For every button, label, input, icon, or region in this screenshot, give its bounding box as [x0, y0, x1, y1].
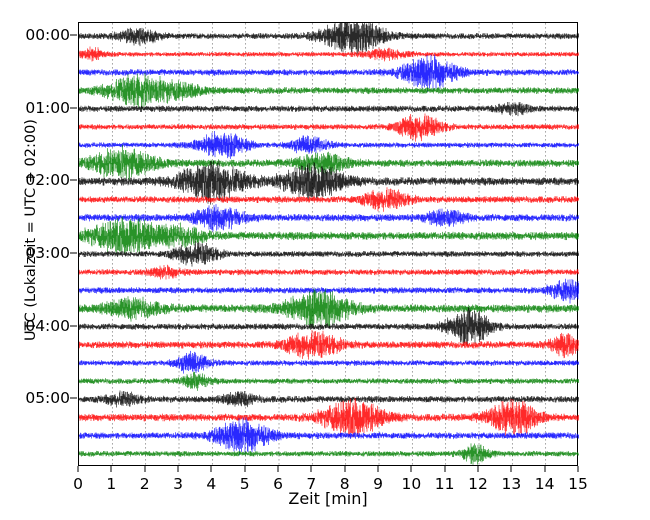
x-axis-tick-mark — [111, 466, 112, 472]
x-axis-tick-mark — [311, 466, 312, 472]
x-axis-tick-mark — [344, 466, 345, 472]
x-axis-tick-mark — [211, 466, 212, 472]
x-axis-tick-mark — [444, 466, 445, 472]
y-axis-tick-mark — [70, 398, 77, 399]
x-axis-label: Zeit [min] — [78, 489, 578, 508]
x-axis-tick-mark — [511, 466, 512, 472]
x-axis-tick-mark — [78, 466, 79, 472]
y-axis-label: UTC (Lokalzeit = UTC + 02:00) — [23, 105, 39, 355]
y-axis-tick-mark — [70, 107, 77, 108]
x-axis-tick-mark — [244, 466, 245, 472]
x-axis-tick-mark — [278, 466, 279, 472]
x-axis-tick-mark — [411, 466, 412, 472]
plot-area — [78, 22, 578, 466]
x-axis-tick-mark — [478, 466, 479, 472]
y-axis-tick-mark — [70, 180, 77, 181]
x-axis-tick-mark — [378, 466, 379, 472]
y-axis-tick-mark — [70, 325, 77, 326]
y-axis-tick-mark — [70, 252, 77, 253]
y-axis-tick-mark — [70, 35, 77, 36]
seismogram-figure: 00:0001:0002:0003:0004:0005:00 UTC (Loka… — [0, 0, 650, 520]
x-axis-tick-mark — [578, 466, 579, 472]
seismogram-traces-canvas — [79, 23, 579, 467]
x-axis-tick-mark — [144, 466, 145, 472]
y-axis-tick-label: 00:00 — [25, 26, 70, 44]
x-axis-tick-mark — [544, 466, 545, 472]
y-axis-tick-label: 05:00 — [25, 389, 70, 407]
x-axis-tick-mark — [178, 466, 179, 472]
